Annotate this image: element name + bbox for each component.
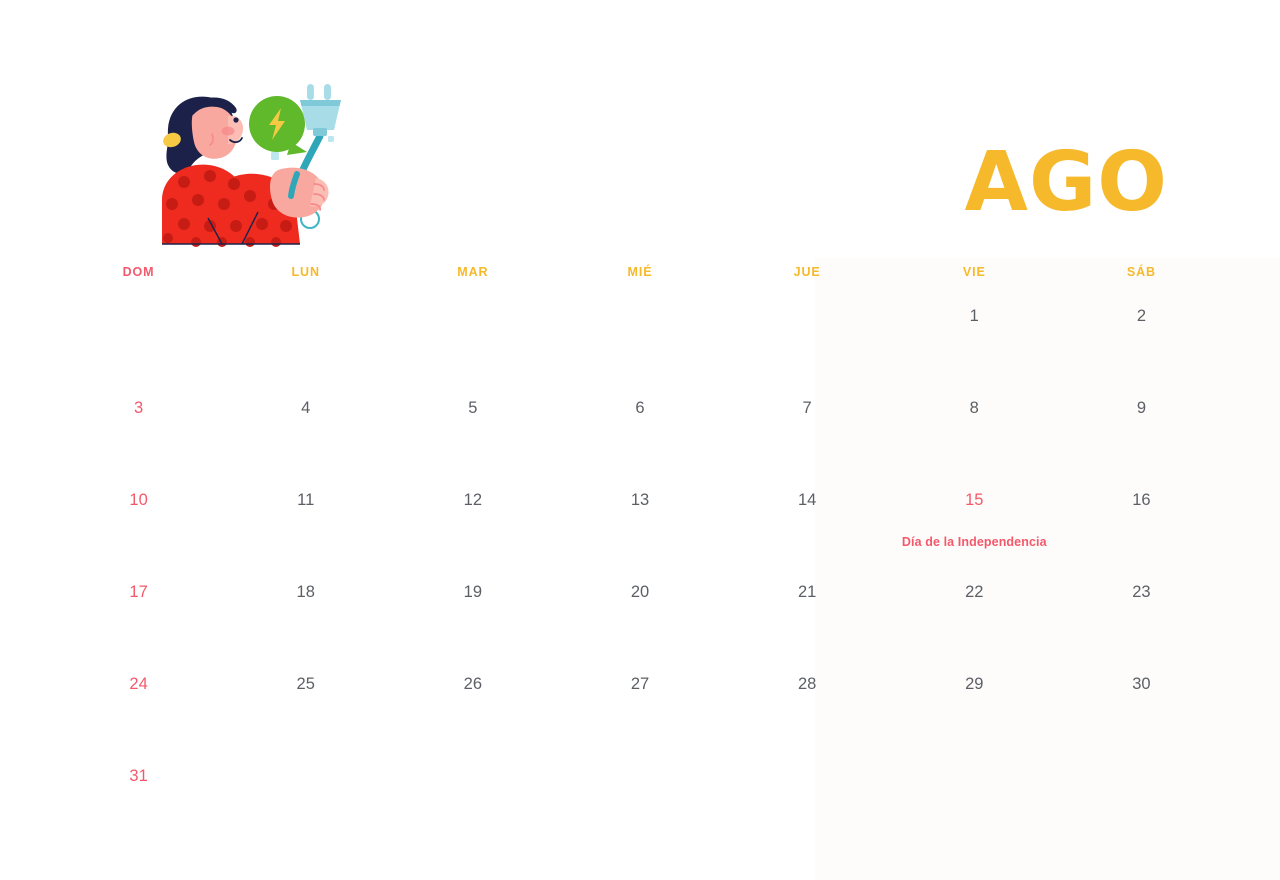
day-cell[interactable]: 24 <box>55 654 222 746</box>
day-number: 12 <box>464 492 482 509</box>
day-number: 17 <box>129 584 147 601</box>
day-cell[interactable] <box>556 286 723 378</box>
day-number: 16 <box>1132 492 1150 509</box>
day-number: 23 <box>1132 584 1150 601</box>
day-cell[interactable]: 7 <box>724 378 891 470</box>
day-number: 1 <box>970 308 979 325</box>
day-cell[interactable] <box>556 746 723 838</box>
day-number: 21 <box>798 584 816 601</box>
day-cell[interactable] <box>55 286 222 378</box>
day-cell[interactable]: 2 <box>1058 286 1225 378</box>
weekday-header-jue: JUE <box>724 258 891 286</box>
day-cell[interactable]: 16 <box>1058 470 1225 562</box>
calendar-week-row: 31 <box>55 746 1225 838</box>
day-number: 30 <box>1132 676 1150 693</box>
day-cell[interactable]: 21 <box>724 562 891 654</box>
day-number: 7 <box>803 400 812 417</box>
day-number: 18 <box>297 584 315 601</box>
day-cell[interactable]: 14 <box>724 470 891 562</box>
day-cell[interactable]: 23 <box>1058 562 1225 654</box>
weekday-header-row: DOM LUN MAR MIÉ JUE VIE SÁB <box>55 258 1225 286</box>
weekday-header-sab: SÁB <box>1058 258 1225 286</box>
day-cell[interactable]: 9 <box>1058 378 1225 470</box>
day-cell[interactable]: 17 <box>55 562 222 654</box>
day-cell[interactable] <box>389 286 556 378</box>
day-number: 31 <box>129 768 147 785</box>
day-cell[interactable]: 26 <box>389 654 556 746</box>
day-cell[interactable]: 6 <box>556 378 723 470</box>
day-number: 3 <box>134 400 143 417</box>
day-cell[interactable]: 10 <box>55 470 222 562</box>
day-cell[interactable]: 13 <box>556 470 723 562</box>
day-number: 10 <box>129 492 147 509</box>
day-cell[interactable] <box>724 746 891 838</box>
day-cell[interactable]: 28 <box>724 654 891 746</box>
day-cell[interactable]: 11 <box>222 470 389 562</box>
calendar-grid: DOM LUN MAR MIÉ JUE VIE SÁB 1 2 3 4 5 6 … <box>55 258 1225 838</box>
calendar-page: AGO DOM LUN MAR MIÉ JUE VIE SÁB 1 2 3 4 … <box>0 0 1280 880</box>
day-cell[interactable] <box>891 746 1058 838</box>
weekday-header-mie: MIÉ <box>556 258 723 286</box>
day-cell[interactable]: 27 <box>556 654 723 746</box>
calendar-week-row: 3 4 5 6 7 8 9 <box>55 378 1225 470</box>
day-cell[interactable]: 25 <box>222 654 389 746</box>
day-number: 14 <box>798 492 816 509</box>
day-number: 4 <box>301 400 310 417</box>
day-cell[interactable]: 3 <box>55 378 222 470</box>
day-cell[interactable] <box>1058 746 1225 838</box>
day-cell[interactable]: 22 <box>891 562 1058 654</box>
calendar-week-row: 10 11 12 13 14 15 Día de la Independenci… <box>55 470 1225 562</box>
day-number: 28 <box>798 676 816 693</box>
month-title: AGO <box>965 142 1168 224</box>
calendar-week-row: 17 18 19 20 21 22 23 <box>55 562 1225 654</box>
day-cell[interactable]: 20 <box>556 562 723 654</box>
day-cell[interactable] <box>724 286 891 378</box>
day-cell[interactable] <box>222 746 389 838</box>
day-cell[interactable]: 19 <box>389 562 556 654</box>
day-number: 24 <box>129 676 147 693</box>
day-number: 25 <box>297 676 315 693</box>
day-number: 13 <box>631 492 649 509</box>
event-label[interactable]: Día de la Independencia <box>902 535 1047 549</box>
day-number: 9 <box>1137 400 1146 417</box>
electric-plug <box>300 84 341 136</box>
day-number: 19 <box>464 584 482 601</box>
day-number: 29 <box>965 676 983 693</box>
calendar-week-row: 1 2 <box>55 286 1225 378</box>
day-cell[interactable]: 12 <box>389 470 556 562</box>
day-number: 2 <box>1137 308 1146 325</box>
day-cell[interactable]: 18 <box>222 562 389 654</box>
green-speech-bubble <box>249 96 307 155</box>
day-cell[interactable]: 4 <box>222 378 389 470</box>
day-cell[interactable]: 8 <box>891 378 1058 470</box>
calendar-week-row: 24 25 26 27 28 29 30 <box>55 654 1225 746</box>
day-number: 11 <box>297 492 314 509</box>
day-cell[interactable] <box>389 746 556 838</box>
weekday-header-lun: LUN <box>222 258 389 286</box>
weekday-header-mar: MAR <box>389 258 556 286</box>
day-number: 5 <box>468 400 477 417</box>
day-number: 22 <box>965 584 983 601</box>
day-number: 20 <box>631 584 649 601</box>
day-number: 26 <box>464 676 482 693</box>
day-cell[interactable] <box>222 286 389 378</box>
day-cell[interactable]: 31 <box>55 746 222 838</box>
day-cell[interactable]: 1 <box>891 286 1058 378</box>
woman-holding-electric-plug-illustration <box>150 78 360 250</box>
day-number: 6 <box>635 400 644 417</box>
day-cell[interactable]: 29 <box>891 654 1058 746</box>
day-cell[interactable]: 5 <box>389 378 556 470</box>
day-number: 27 <box>631 676 649 693</box>
day-number: 8 <box>970 400 979 417</box>
day-cell[interactable]: 30 <box>1058 654 1225 746</box>
weekday-header-vie: VIE <box>891 258 1058 286</box>
weekday-header-dom: DOM <box>55 258 222 286</box>
day-cell-holiday[interactable]: 15 Día de la Independencia <box>891 470 1058 562</box>
day-number: 15 <box>965 492 983 509</box>
